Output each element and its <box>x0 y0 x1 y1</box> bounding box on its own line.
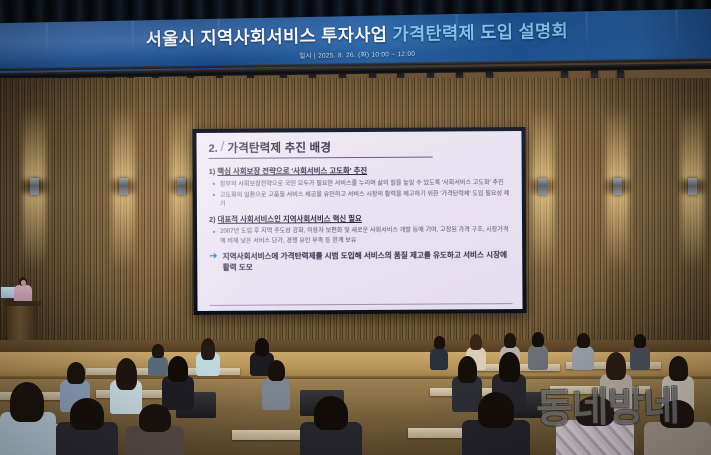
slide-bullet: 정부의 사회보장전략으로 국민 모두가 필요한 서비스를 누리며 삶의 질을 높… <box>209 178 512 189</box>
audience-member <box>430 336 448 370</box>
audience-member <box>126 404 184 455</box>
slide-title-block: 2. / 가격탄력제 추진 배경 <box>209 139 433 159</box>
wall-sconce-icon <box>613 178 622 195</box>
audience-member <box>56 398 118 455</box>
slide-item-heading-text: 핵심 사회보장 전략으로 '사회서비스 고도화' 추진 <box>217 166 367 176</box>
audience-member <box>0 382 56 455</box>
seminar-photo: 서울시 지역사회서비스 투자사업 가격탄력제 도입 설명회 일시 | 2025.… <box>0 0 711 455</box>
audience-member <box>462 392 530 455</box>
audience-member <box>630 334 650 370</box>
projection-screen: 2. / 가격탄력제 추진 배경 1) 핵심 사회보장 전략으로 '사회서비스 … <box>192 127 526 315</box>
wall-sconce-icon <box>30 178 39 195</box>
slide-item-heading-text: 대표적 사회서비스인 지역사회서비스 혁신 필요 <box>218 214 362 224</box>
audience-member <box>196 338 220 374</box>
slide-item-marker: 1) <box>209 167 216 176</box>
wall-sconce-icon <box>688 178 697 195</box>
slide-number: 2. <box>209 143 218 155</box>
watermark: 동네방네 <box>536 387 680 429</box>
slide-item-heading: 1) 핵심 사회보장 전략으로 '사회서비스 고도화' 추진 <box>209 164 512 177</box>
audience-member <box>572 333 594 370</box>
audience-member <box>528 332 548 370</box>
wall-sconce-icon <box>177 178 186 195</box>
slide-title: 가격탄력제 추진 배경 <box>227 139 331 156</box>
presentation-slide: 2. / 가격탄력제 추진 배경 1) 핵심 사회보장 전략으로 '사회서비스 … <box>196 131 522 311</box>
slide-item-heading: 2) 대표적 사회서비스인 지역사회서비스 혁신 필요 <box>209 212 512 225</box>
audience-member <box>162 356 194 408</box>
wall-sconce-icon <box>119 178 128 195</box>
slide-title-divider: / <box>221 139 225 154</box>
slide-bottom-rule <box>210 303 513 306</box>
slide-bullet: 2007년 도입 후 지역 주도성 강화, 이용자 보편화 및 새로운 사회서비… <box>209 225 512 246</box>
slide-bullet: 고도화의 일환으로 고품질 서비스 제공을 유인하고 서비스 시장의 활력을 제… <box>209 189 512 210</box>
slide-item: 2) 대표적 사회서비스인 지역사회서비스 혁신 필요 2007년 도입 후 지… <box>209 212 512 246</box>
slide-conclusion: ➜ 지역사회서비스에 가격탄력제를 시범 도입해 서비스의 품질 제고를 유도하… <box>209 250 512 273</box>
wall-sconce-icon <box>538 178 547 195</box>
slide-item: 1) 핵심 사회보장 전략으로 '사회서비스 고도화' 추진 정부의 사회보장전… <box>209 164 512 210</box>
arrow-icon: ➜ <box>209 252 217 262</box>
slide-conclusion-text: 지역사회서비스에 가격탄력제를 시범 도입해 서비스의 품질 제고를 유도하고 … <box>223 250 513 273</box>
audience-member <box>262 360 290 408</box>
banner-title-accent: 가격탄력제 도입 설명회 <box>392 21 568 45</box>
audience-member <box>300 396 362 455</box>
slide-item-marker: 2) <box>209 215 216 224</box>
